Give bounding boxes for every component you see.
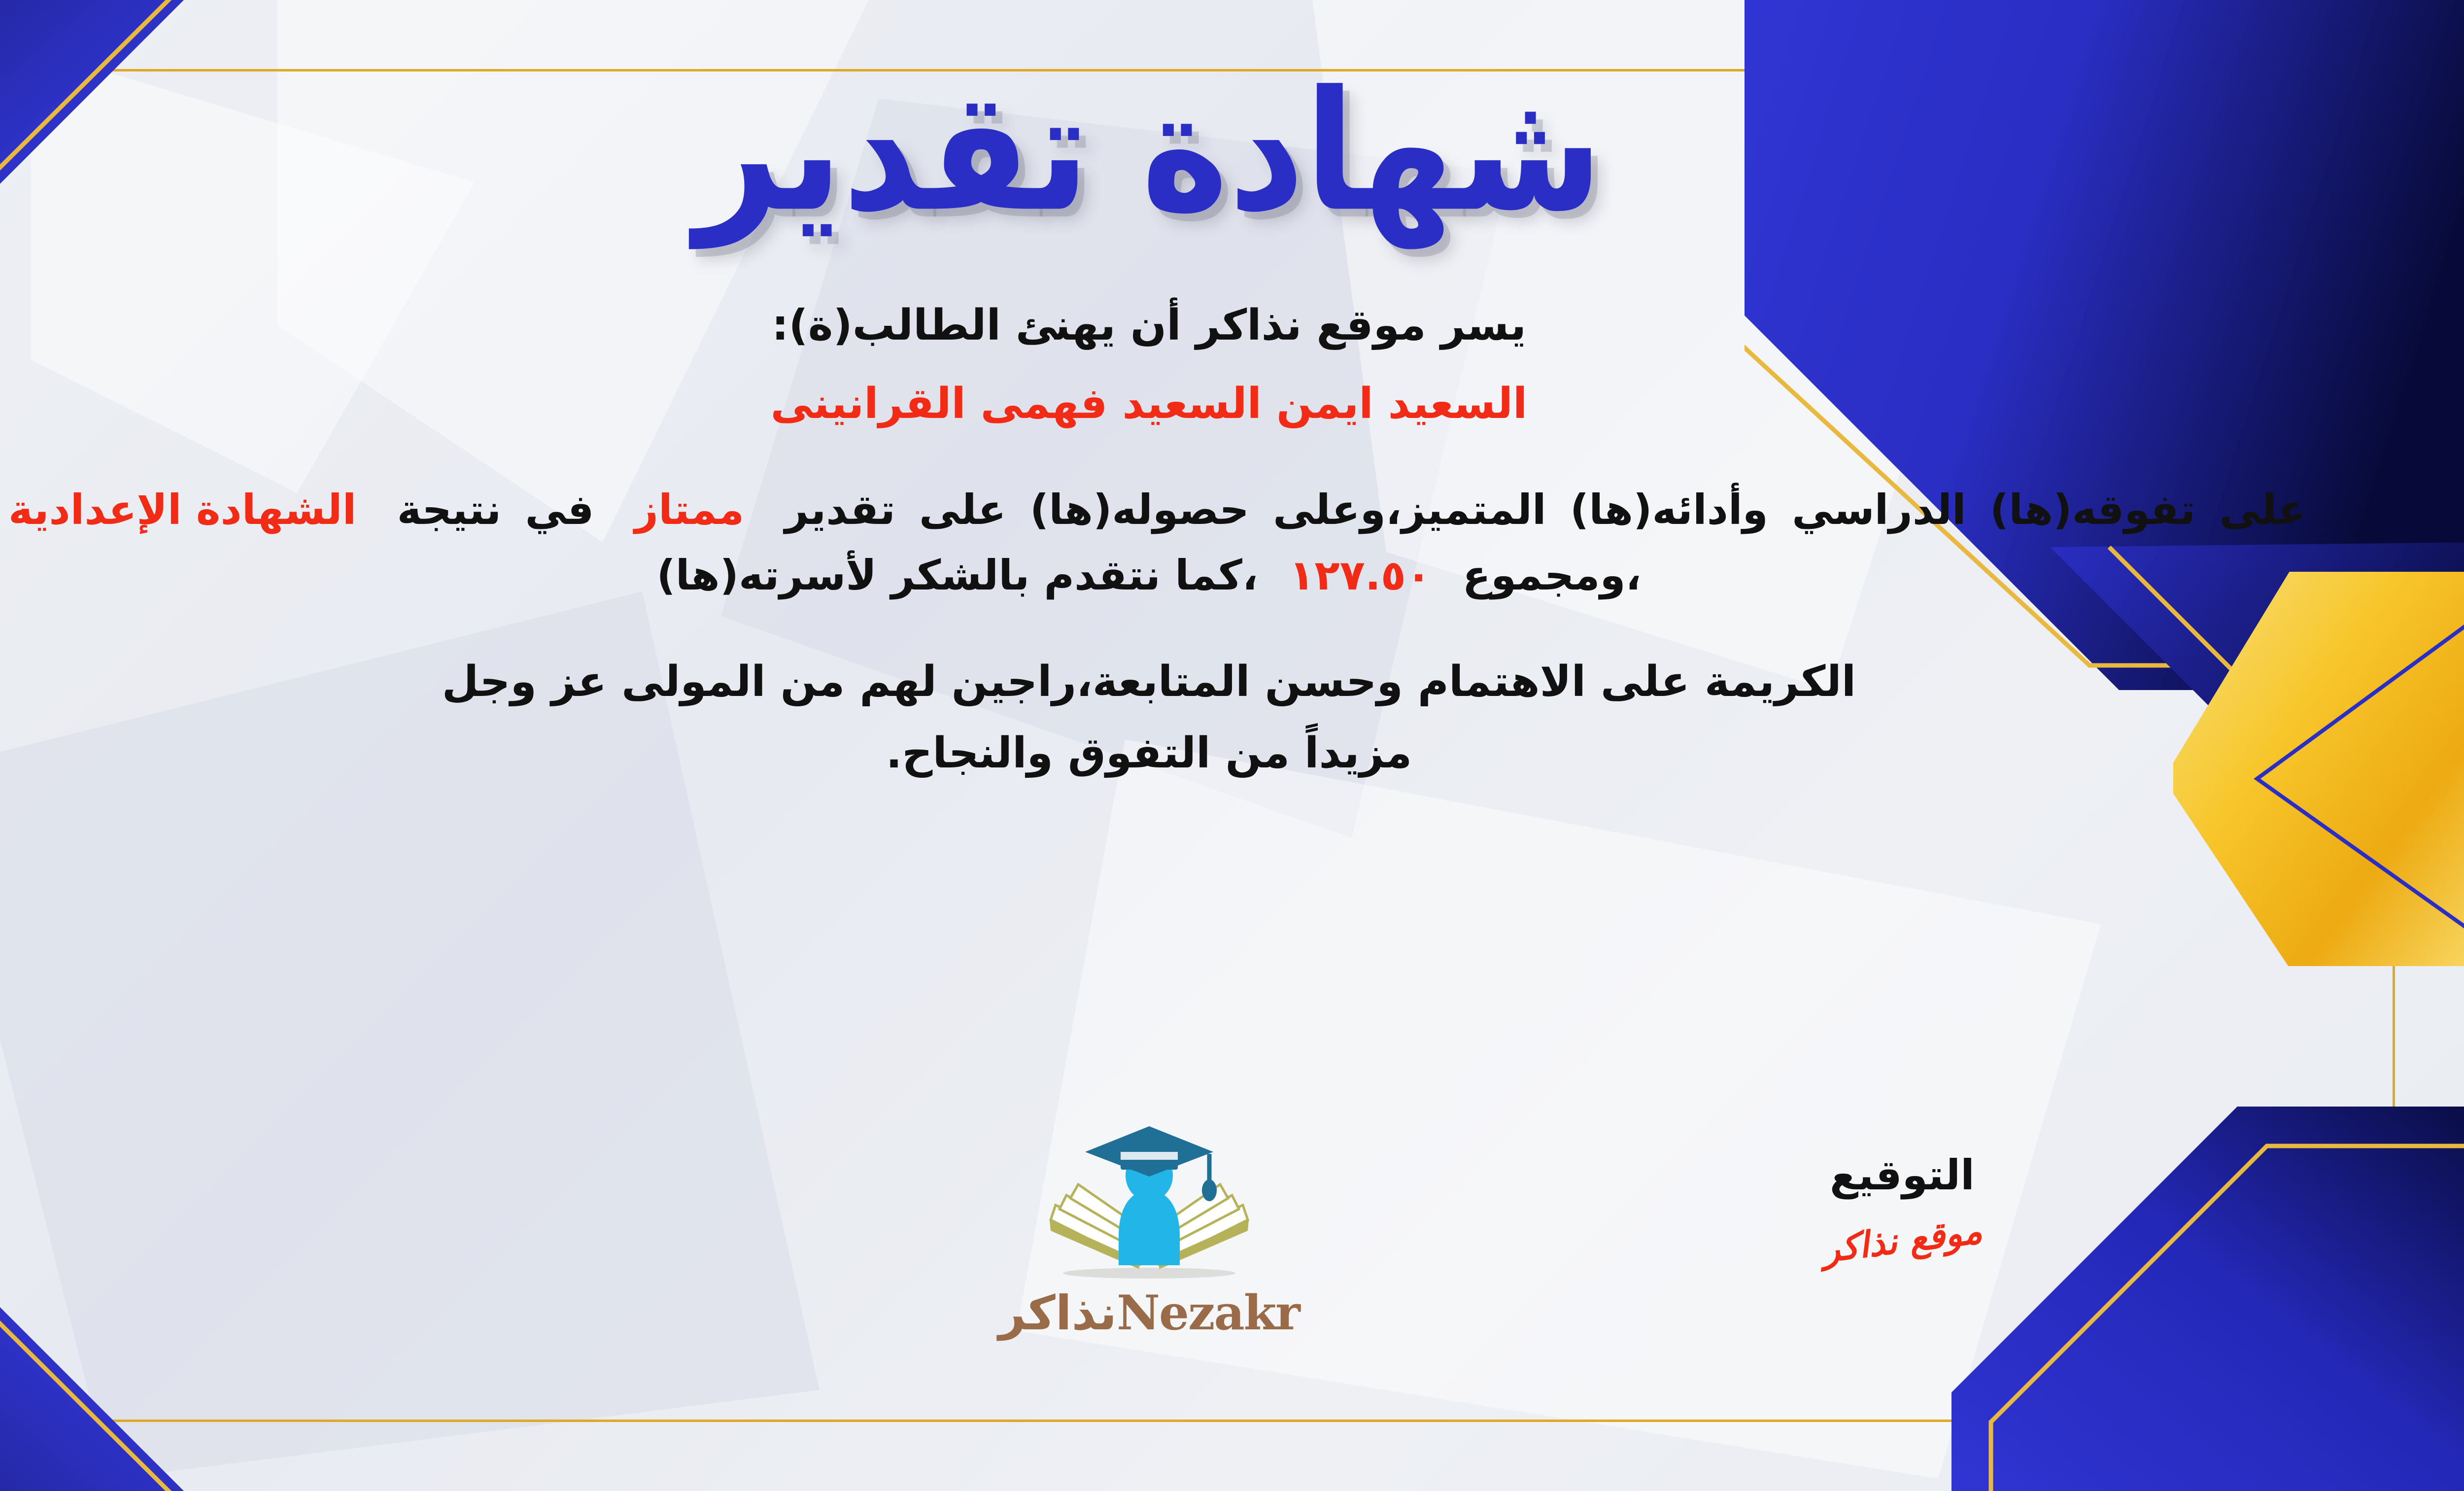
certificate-content: شهادة تقدير يسر موقع نذاكر أن يهنئ الطال… bbox=[0, 59, 2336, 792]
signature-handwriting: موقع نذاكر bbox=[1820, 1209, 1984, 1270]
certificate-footer: التوقيع موقع نذاكر bbox=[0, 1111, 2336, 1387]
certificate-canvas: شهادة تقدير يسر موقع نذاكر أن يهنئ الطال… bbox=[0, 0, 2464, 1491]
grade-value: ممتاز bbox=[618, 477, 761, 543]
achievement-text-part-2: في نتيجة bbox=[397, 485, 594, 534]
page-title: شهادة تقدير bbox=[0, 59, 2336, 239]
brand-name-arabic: نذاكر bbox=[998, 1285, 1117, 1341]
brand-logo: Nezakrنذاكر bbox=[996, 1121, 1302, 1341]
signature-label: التوقيع bbox=[1784, 1151, 2020, 1199]
achievement-text-part-1: على تفوقه(ها) الدراسي وأدائه(ها) المتميز… bbox=[785, 485, 2306, 534]
total-score: ١٢٧.٥٠ bbox=[1272, 543, 1448, 608]
certificate-body: يسر موقع نذاكر أن يهنئ الطالب(ة): السعيد… bbox=[0, 293, 2336, 785]
student-name: السعيد ايمن السعيد فهمى القرانينى bbox=[0, 372, 2316, 436]
gratitude-line: الكريمة على الاهتمام وحسن المتابعة،راجين… bbox=[0, 650, 2316, 714]
closing-line: مزيداً من التفوق والنجاح. bbox=[0, 721, 2316, 786]
signature-block: التوقيع موقع نذاكر bbox=[1784, 1151, 2020, 1261]
achievement-paragraph: على تفوقه(ها) الدراسي وأدائه(ها) المتميز… bbox=[0, 477, 2316, 608]
exam-name: الشهادة الإعدادية bbox=[0, 477, 373, 543]
achievement-text-part-3: ،ومجموع bbox=[1463, 551, 1642, 599]
intro-line: يسر موقع نذاكر أن يهنئ الطالب(ة): bbox=[0, 293, 2316, 358]
graduate-book-icon bbox=[1036, 1121, 1263, 1289]
brand-name-latin: Nezakr bbox=[1117, 1285, 1300, 1341]
brand-wordmark: Nezakrنذاكر bbox=[996, 1285, 1302, 1341]
achievement-text-part-4: ،كما نتقدم بالشكر لأسرته(ها) bbox=[656, 551, 1258, 599]
